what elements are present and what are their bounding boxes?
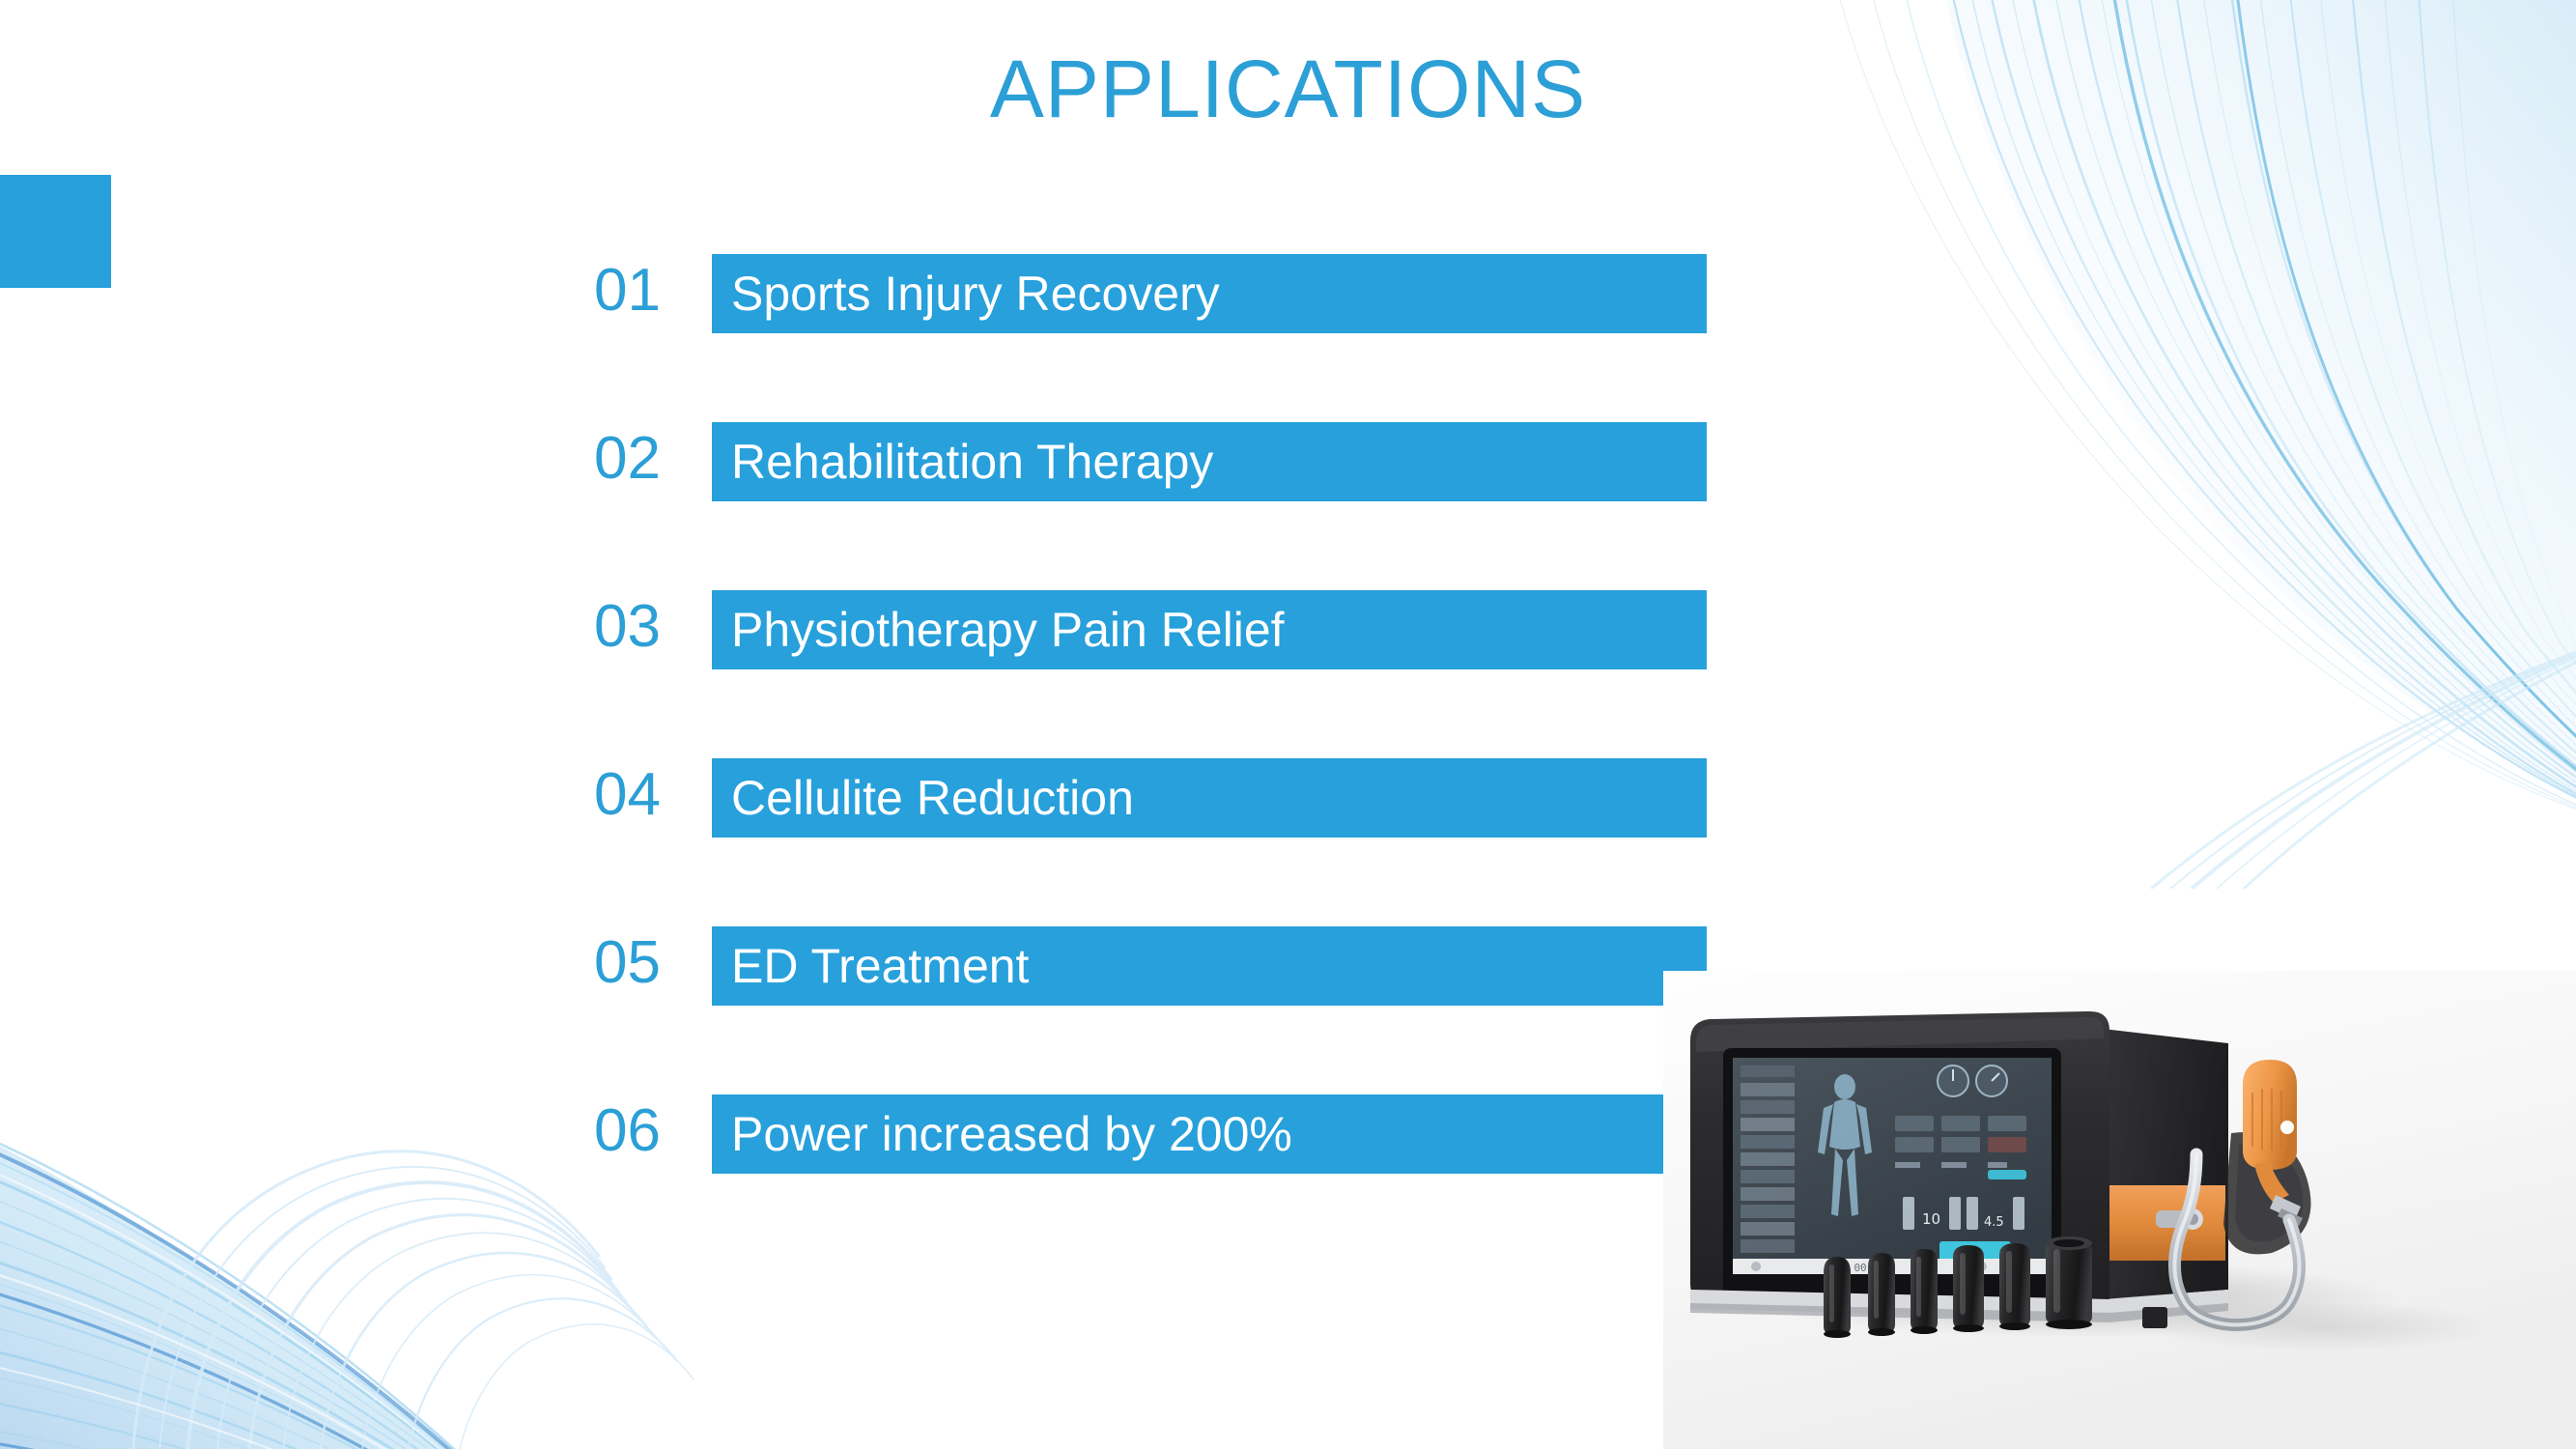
list-item[interactable]: 06 Power increased by 200% bbox=[594, 1090, 1840, 1258]
shockwave-therapy-machine-photo: 10 4.5 00:00 bbox=[1663, 971, 2576, 1449]
blue-square-accent bbox=[0, 175, 111, 288]
list-item-label: Cellulite Reduction bbox=[712, 774, 1134, 822]
svg-text:4.5: 4.5 bbox=[1984, 1215, 2004, 1230]
list-item-number: 04 bbox=[594, 753, 691, 837]
list-item-number: 01 bbox=[594, 249, 691, 332]
list-item-bar[interactable]: Sports Injury Recovery bbox=[712, 254, 1707, 333]
list-item-bar[interactable]: Power increased by 200% bbox=[712, 1094, 1707, 1174]
list-item[interactable]: 05 ED Treatment bbox=[594, 922, 1840, 1090]
list-item-label: Physiotherapy Pain Relief bbox=[712, 606, 1285, 654]
list-item-bar[interactable]: ED Treatment bbox=[712, 926, 1707, 1006]
list-item-number: 06 bbox=[594, 1090, 691, 1173]
list-item-label: Power increased by 200% bbox=[712, 1110, 1292, 1158]
list-item-bar[interactable]: Physiotherapy Pain Relief bbox=[712, 590, 1707, 669]
list-item[interactable]: 01 Sports Injury Recovery bbox=[594, 249, 1840, 417]
list-item[interactable]: 04 Cellulite Reduction bbox=[594, 753, 1840, 922]
list-item-bar[interactable]: Cellulite Reduction bbox=[712, 758, 1707, 838]
list-item-number: 05 bbox=[594, 922, 691, 1005]
slide-canvas: APPLICATIONS 01 Sports Injury Recovery 0… bbox=[0, 0, 2576, 1449]
list-item[interactable]: 02 Rehabilitation Therapy bbox=[594, 417, 1840, 585]
svg-text:10: 10 bbox=[1922, 1210, 1940, 1228]
list-item-label: Rehabilitation Therapy bbox=[712, 438, 1213, 486]
list-item-label: Sports Injury Recovery bbox=[712, 270, 1220, 318]
list-item-bar[interactable]: Rehabilitation Therapy bbox=[712, 422, 1707, 501]
list-item-number: 02 bbox=[594, 417, 691, 500]
page-title: APPLICATIONS bbox=[0, 48, 2576, 129]
list-item-number: 03 bbox=[594, 585, 691, 668]
list-item[interactable]: 03 Physiotherapy Pain Relief bbox=[594, 585, 1840, 753]
applications-list: 01 Sports Injury Recovery 02 Rehabilitat… bbox=[594, 249, 1840, 1258]
list-item-label: ED Treatment bbox=[712, 942, 1029, 990]
